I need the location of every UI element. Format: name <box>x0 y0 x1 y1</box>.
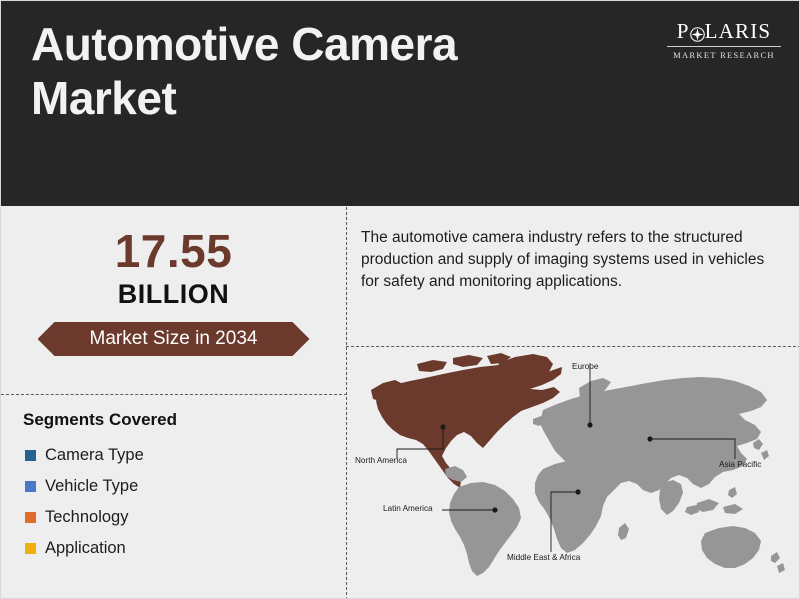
dot-middle-east-africa <box>575 489 580 494</box>
legend-item: Camera Type <box>25 440 144 471</box>
segments-block: Segments Covered Camera Type Vehicle Typ… <box>1 395 346 599</box>
legend-label: Camera Type <box>45 446 144 465</box>
region-japan <box>753 439 769 460</box>
logo-word-suffix: LARIS <box>705 21 772 42</box>
page-title: Automotive Camera Market <box>31 17 591 126</box>
market-description: The automotive camera industry refers to… <box>361 227 781 293</box>
region-australia-shape <box>701 526 761 568</box>
legend-label: Application <box>45 539 126 558</box>
region-madagascar <box>618 523 629 540</box>
region-philippines <box>728 487 737 498</box>
logo-divider <box>667 46 781 47</box>
legend-swatch-icon <box>25 512 36 523</box>
dot-asia-pacific <box>647 436 652 441</box>
segments-legend: Camera Type Vehicle Type Technology Appl… <box>25 440 144 564</box>
map-label-middle-east-africa: Middle East & Africa <box>507 553 580 562</box>
infographic-canvas: Automotive Camera Market P LARIS MARKET … <box>0 0 800 599</box>
header-banner: Automotive Camera Market P LARIS MARKET … <box>1 1 800 206</box>
logo-wordmark: P LARIS <box>665 21 783 42</box>
legend-item: Vehicle Type <box>25 471 144 502</box>
dot-latin-america <box>492 507 497 512</box>
region-india <box>659 480 683 515</box>
dot-north-america <box>440 424 445 429</box>
world-map-block: North America Europe Asia Pacific Latin … <box>347 347 800 599</box>
legend-swatch-icon <box>25 450 36 461</box>
logo-subtitle: MARKET RESEARCH <box>665 50 783 60</box>
polaris-logo: P LARIS MARKET RESEARCH <box>665 21 783 60</box>
market-size-value: 17.55 <box>1 228 346 274</box>
market-size-unit: BILLION <box>1 281 346 308</box>
legend-swatch-icon <box>25 543 36 554</box>
map-label-asia-pacific: Asia Pacific <box>719 460 761 469</box>
map-label-north-america: North America <box>355 456 407 465</box>
legend-item: Application <box>25 533 144 564</box>
segments-title: Segments Covered <box>23 410 177 430</box>
region-central-america <box>445 466 467 482</box>
market-size-block: 17.55 BILLION Market Size in 2034 <box>1 207 346 394</box>
logo-word-prefix: P <box>677 21 690 42</box>
map-label-latin-america: Latin America <box>383 504 433 513</box>
market-size-ribbon-label: Market Size in 2034 <box>90 328 258 350</box>
region-africa-shape <box>535 460 615 553</box>
legend-item: Technology <box>25 502 144 533</box>
region-new-zealand <box>771 552 785 573</box>
market-size-ribbon: Market Size in 2034 <box>38 322 310 356</box>
legend-swatch-icon <box>25 481 36 492</box>
dot-europe <box>587 422 592 427</box>
legend-label: Vehicle Type <box>45 477 138 496</box>
compass-star-icon <box>690 25 705 40</box>
legend-label: Technology <box>45 508 128 527</box>
map-label-europe: Europe <box>572 362 598 371</box>
region-sea-islands <box>685 499 743 515</box>
